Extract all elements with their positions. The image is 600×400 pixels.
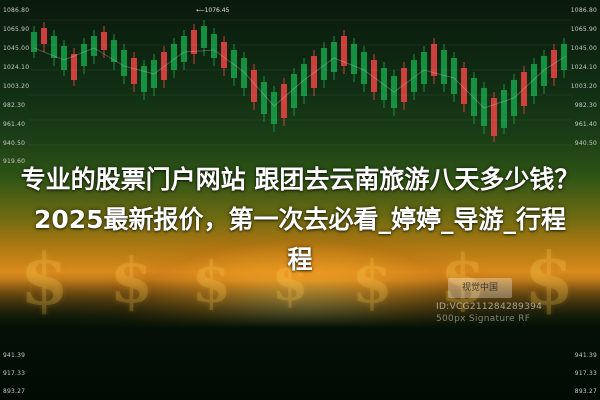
price-annotation: ⟵1076.45 [196,7,229,14]
axis-label-right: 1086.80 [571,7,597,14]
axis-label-left: 1086.80 [3,7,29,14]
headline-line-3: 程 [0,240,600,280]
axis-label-left: 1065.90 [3,26,29,33]
axis-label-right: 940.50 [575,140,597,147]
axis-label-right: 893.27 [575,388,597,395]
axis-label-left: 917.33 [3,370,25,377]
axis-label-left: 961.40 [3,121,25,128]
axis-label-right: 1003.20 [571,83,597,90]
axis-label-right: 1065.90 [571,26,597,33]
axis-label-left: 982.30 [3,102,25,109]
axis-label-right: 982.30 [575,102,597,109]
axis-label-left: 1024.10 [3,64,29,71]
watermark-id-text: ID:VCG211284289394 [436,302,542,312]
headline-overlay: 专业的股票门户网站 跟团去云南旅游八天多少钱？ 2025最新报价，第一次去必看_… [0,160,600,280]
axis-label-right: 941.39 [575,352,597,359]
axis-label-left: 893.27 [3,388,25,395]
axis-label-right: 917.33 [575,370,597,377]
axis-label-left: 1045.00 [3,45,29,52]
headline-line-1: 专业的股票门户网站 跟团去云南旅游八天多少钱？ [0,160,600,200]
watermark: 视觉中国 ID:VCG211284289394 500px Signature … [436,278,586,330]
watermark-logo-label: 视觉中国 [448,278,512,298]
axis-label-left: 940.50 [3,140,25,147]
axis-label-right: 961.40 [575,121,597,128]
watermark-license-text: 500px Signature RF [436,314,530,324]
axis-label-left: 1003.20 [3,83,29,90]
axis-label-left: 941.39 [3,352,25,359]
axis-label-right: 1024.10 [571,64,597,71]
image-canvas: $ $ $ $ $ $ $ 1086.80 1065.90 1045.00 10… [0,0,600,400]
headline-line-2: 2025最新报价，第一次去必看_婷婷_导游_行程 [0,200,600,240]
axis-label-right: 1045.00 [571,45,597,52]
